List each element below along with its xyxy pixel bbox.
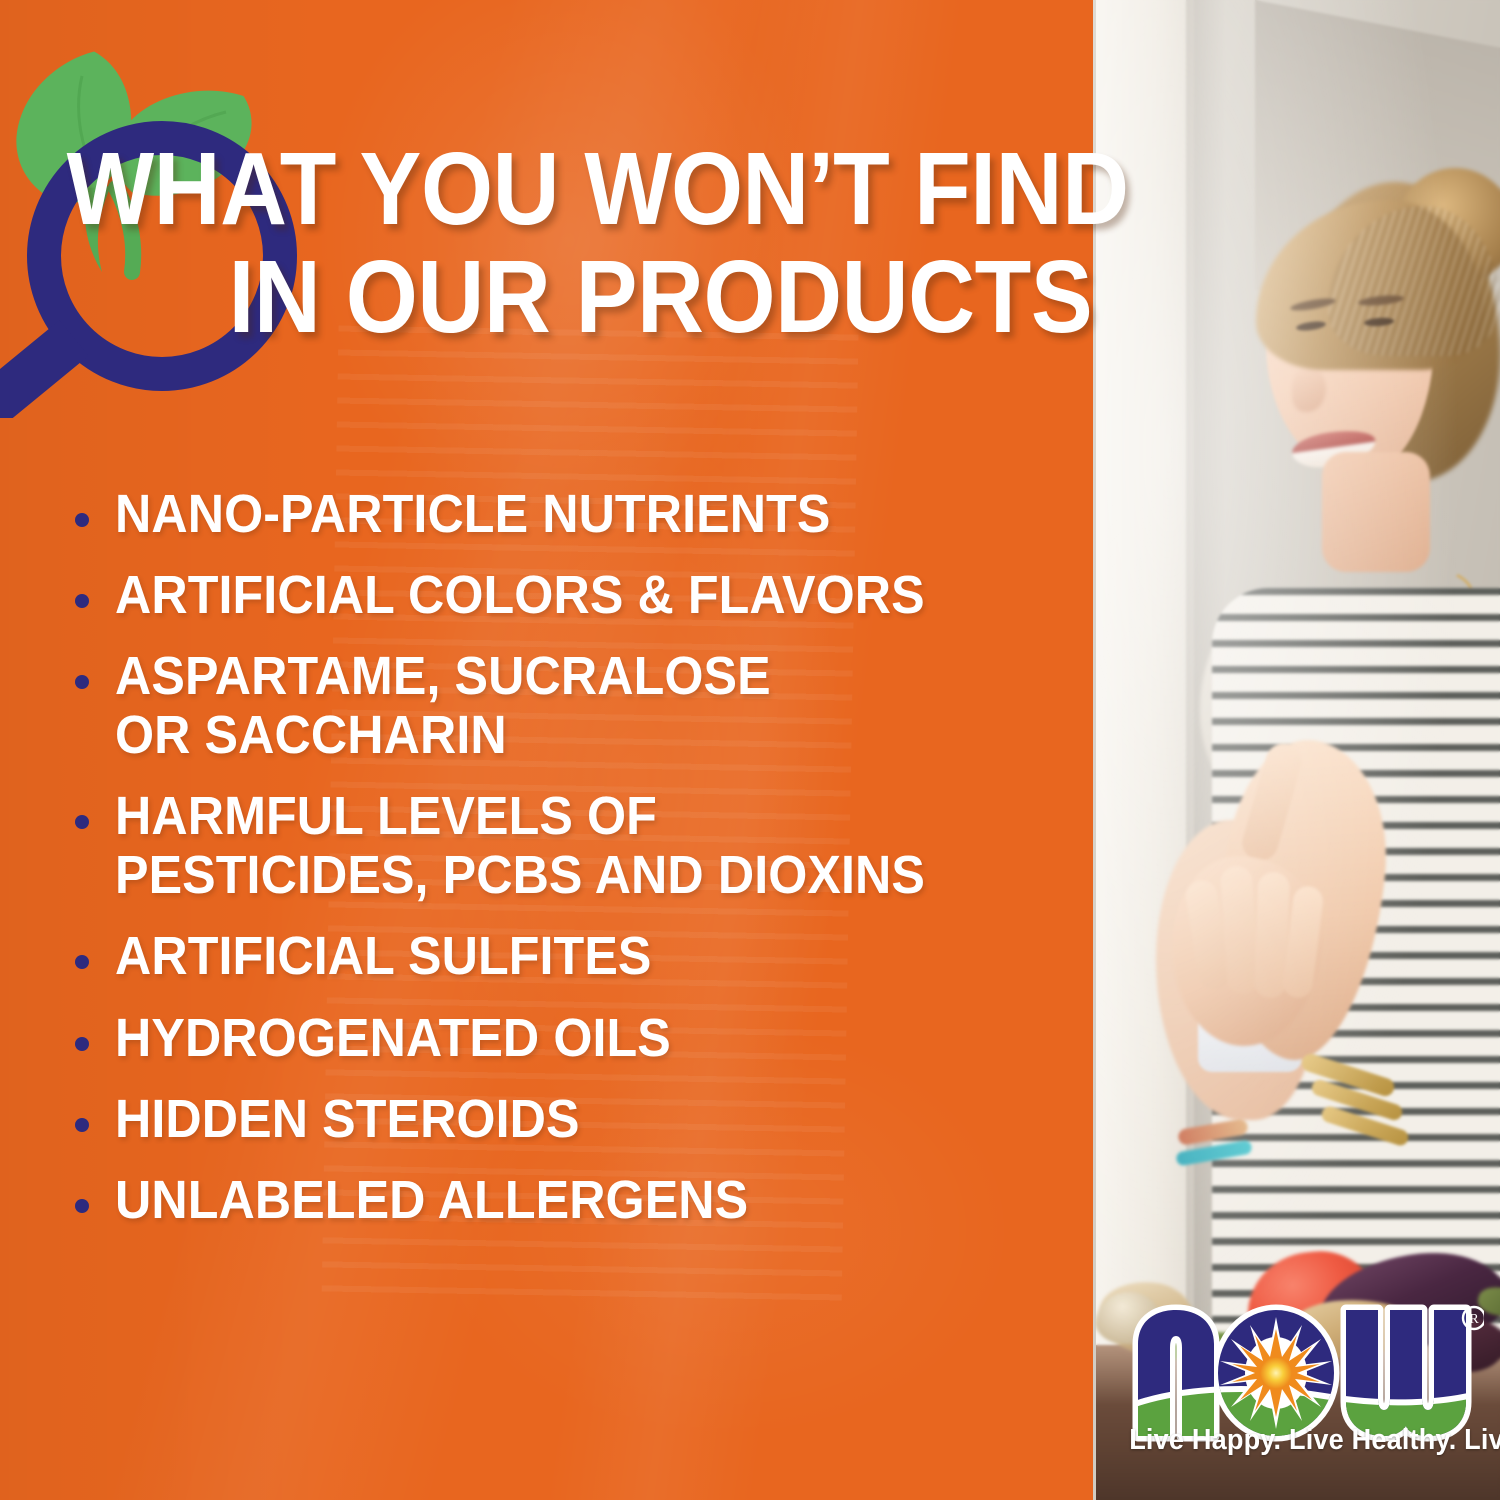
headline-emphasis-wont: WON’T bbox=[584, 131, 888, 246]
list-item-line: HYDROGENATED OILS bbox=[115, 1011, 1025, 1066]
list-item-line: ARTIFICIAL SULFITES bbox=[115, 929, 1025, 984]
list-item-line: UNLABELED ALLERGENS bbox=[115, 1173, 1025, 1228]
exclusions-list: NANO-PARTICLE NUTRIENTS ARTIFICIAL COLOR… bbox=[0, 487, 1093, 1254]
now-foods-logo: R bbox=[1124, 1300, 1484, 1485]
headline-line-1: WHAT YOU WON’T FIND bbox=[0, 140, 1350, 239]
bullet-dot-icon bbox=[75, 815, 89, 829]
list-item: ASPARTAME, SUCRALOSE OR SACCHARIN bbox=[0, 649, 1093, 763]
list-item-line: HARMFUL LEVELS OF bbox=[115, 789, 1025, 844]
bullet-dot-icon bbox=[75, 1037, 89, 1051]
bullet-dot-icon bbox=[75, 1118, 89, 1132]
bullet-dot-icon bbox=[75, 513, 89, 527]
bullet-dot-icon bbox=[75, 675, 89, 689]
bullet-dot-icon bbox=[75, 594, 89, 608]
list-item: UNLABELED ALLERGENS bbox=[0, 1173, 1093, 1228]
list-item: HARMFUL LEVELS OF PESTICIDES, PCBS AND D… bbox=[0, 789, 1093, 903]
headline-part-b: FIND bbox=[889, 131, 1129, 246]
list-item-line: ASPARTAME, SUCRALOSE bbox=[115, 649, 1025, 704]
list-item: ARTIFICIAL COLORS & FLAVORS bbox=[0, 568, 1093, 623]
list-item-line: ARTIFICIAL COLORS & FLAVORS bbox=[115, 568, 1025, 623]
neck bbox=[1322, 452, 1430, 572]
bullet-dot-icon bbox=[75, 1199, 89, 1213]
list-item-line: NANO-PARTICLE NUTRIENTS bbox=[115, 487, 1025, 542]
list-item-line: OR SACCHARIN bbox=[115, 708, 1025, 763]
list-item: ARTIFICIAL SULFITES bbox=[0, 929, 1093, 984]
now-tagline: Live Happy. Live Healthy. Live NOW. bbox=[1129, 1424, 1479, 1457]
list-item-line: HIDDEN STEROIDS bbox=[115, 1092, 1025, 1147]
svg-text:R: R bbox=[1469, 1312, 1479, 1327]
bullet-dot-icon bbox=[75, 955, 89, 969]
list-item: NANO-PARTICLE NUTRIENTS bbox=[0, 487, 1093, 542]
headline-part-a: WHAT YOU bbox=[67, 131, 585, 246]
list-item: HYDROGENATED OILS bbox=[0, 1011, 1093, 1066]
list-item-line: PESTICIDES, PCBS AND DIOXINS bbox=[115, 848, 1025, 903]
page-title: WHAT YOU WON’T FIND IN OUR PRODUCTS bbox=[0, 140, 1500, 347]
headline-line-2: IN OUR PRODUCTS bbox=[0, 248, 1350, 347]
list-item: HIDDEN STEROIDS bbox=[0, 1092, 1093, 1147]
marketing-graphic: WHAT YOU WON’T FIND IN OUR PRODUCTS NANO… bbox=[0, 0, 1500, 1500]
